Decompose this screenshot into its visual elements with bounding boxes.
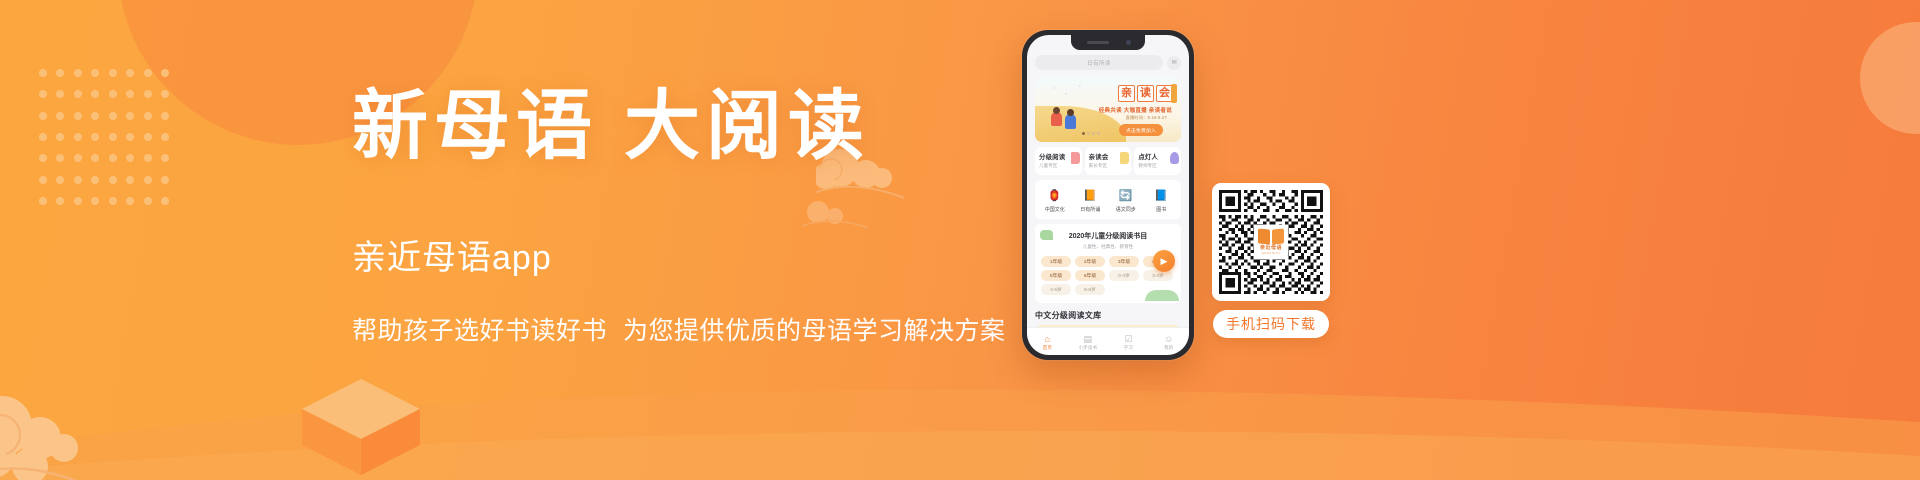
app-promo-banner[interactable]: ᵛ ᵛ ᵛ 亲 读 会 经典共读 大咖直播 亲读者说 直播时间：9.16-9.2… xyxy=(1035,76,1181,142)
category-card-teacher[interactable]: 点灯人 教师专区 xyxy=(1134,147,1181,175)
grade-chip[interactable]: 2年级 xyxy=(1075,256,1105,267)
promo-banner: 新母语大阅读 亲近母语app 帮助孩子选好书读好书为您提供优质的母语学习解决方案… xyxy=(0,0,1920,480)
quick-link-chinese-culture[interactable]: 🏮 中国文化 xyxy=(1037,187,1073,213)
decor-hill-curve xyxy=(0,330,1920,480)
people-icon xyxy=(1170,152,1179,164)
home-icon: ⌂ xyxy=(1027,334,1068,344)
tab-reading[interactable]: ▤ 小步读书 xyxy=(1068,333,1109,351)
books-icon: 📘 xyxy=(1144,190,1180,203)
page-title: 新母语大阅读 xyxy=(352,86,1052,170)
decor-cloud-bottom-left xyxy=(0,392,102,480)
category-card-graded-reading[interactable]: 分级阅读 儿童专区 xyxy=(1035,147,1082,175)
illustration-child-red xyxy=(1051,112,1062,126)
quick-link-label: 中国文化 xyxy=(1037,206,1073,213)
bird-icon: ᵛ xyxy=(1053,86,1055,92)
camera-icon xyxy=(1126,40,1131,45)
quick-link-label: 日有所诵 xyxy=(1073,206,1109,213)
headline-part-2: 大阅读 xyxy=(624,85,870,169)
age-chip[interactable]: 3-4岁 xyxy=(1143,270,1173,281)
chinese-culture-icon: 🏮 xyxy=(1037,190,1073,203)
category-card-parent-club[interactable]: 亲读会 家长专区 xyxy=(1085,147,1132,175)
search-input[interactable]: 日有所读 xyxy=(1035,55,1163,70)
tagline: 帮助孩子选好书读好书为您提供优质的母语学习解决方案 xyxy=(352,311,1052,347)
quick-link-label: 图书 xyxy=(1144,206,1180,213)
app-name: 亲近母语app xyxy=(352,230,1052,279)
booklist-card[interactable]: 2020年儿童分级阅读书目 儿童性、经典性、教育性 1年级 2年级 3年级 4年… xyxy=(1035,224,1181,303)
book-icon xyxy=(1071,152,1080,164)
headline-block: 新母语大阅读 亲近母语app 帮助孩子选好书读好书为您提供优质的母语学习解决方案 xyxy=(352,86,1052,347)
booklist-title: 2020年儿童分级阅读书目 xyxy=(1041,231,1175,241)
decor-isometric-cube xyxy=(302,379,420,480)
decor-circle-top-right xyxy=(1860,22,1920,134)
grade-chip[interactable]: 3年级 xyxy=(1109,256,1139,267)
illustration-child-blue xyxy=(1065,114,1076,129)
message-icon[interactable]: ✉ xyxy=(1167,56,1181,70)
tab-home[interactable]: ⌂ 首页 xyxy=(1027,333,1068,351)
bird-icon: ᵛ xyxy=(1065,92,1067,98)
daily-recite-icon: 📙 xyxy=(1073,190,1109,203)
tab-label: 学习 xyxy=(1108,345,1149,351)
tagline-part-2: 为您提供优质的母语学习解决方案 xyxy=(623,317,1006,345)
tab-label: 首页 xyxy=(1027,345,1068,351)
carousel-dots[interactable] xyxy=(1082,132,1100,135)
tagline-part-1: 帮助孩子选好书读好书 xyxy=(352,317,607,345)
phone-notch xyxy=(1071,35,1145,50)
qr-code-card[interactable]: 亲近母语 QINJIN MUYU xyxy=(1212,183,1330,301)
promo-title-char: 读 xyxy=(1137,85,1154,102)
bird-icon: ᵛ xyxy=(1079,84,1081,90)
promo-title: 亲 读 会 xyxy=(1118,85,1173,102)
quick-link-books[interactable]: 📘 图书 xyxy=(1144,187,1180,213)
age-chip[interactable]: 4-5岁 xyxy=(1041,284,1071,295)
quick-link-sync-lesson[interactable]: 🔄 语文同步 xyxy=(1108,187,1144,213)
book-icon xyxy=(1120,152,1129,164)
tab-profile[interactable]: ☺ 我的 xyxy=(1149,333,1190,351)
app-search-row: 日有所读 ✉ xyxy=(1035,55,1181,70)
tab-label: 我的 xyxy=(1149,345,1190,351)
open-book-icon xyxy=(1258,229,1284,244)
tab-label: 小步读书 xyxy=(1068,345,1109,351)
tab-study[interactable]: ☑ 学习 xyxy=(1108,333,1149,351)
age-chip[interactable]: 5-6岁 xyxy=(1075,284,1105,295)
qr-logo-pinyin: QINJIN MUYU xyxy=(1261,252,1280,255)
play-video-icon[interactable]: ▶ xyxy=(1153,250,1175,272)
grade-chip[interactable]: 1年级 xyxy=(1041,256,1071,267)
promo-ribbon xyxy=(1171,84,1177,103)
checklist-icon: ☑ xyxy=(1108,334,1149,344)
quick-icon-row: 🏮 中国文化 📙 日有所诵 🔄 语文同步 📘 图书 xyxy=(1035,180,1181,219)
quick-link-daily-recite[interactable]: 📙 日有所诵 xyxy=(1073,187,1109,213)
promo-join-button[interactable]: 点击免费加入 xyxy=(1119,124,1163,136)
user-icon: ☺ xyxy=(1149,334,1190,344)
qr-center-logo: 亲近母语 QINJIN MUYU xyxy=(1254,225,1288,259)
age-chip[interactable]: 0-3岁 xyxy=(1109,270,1139,281)
decor-dot-grid xyxy=(34,62,174,212)
speaker-icon xyxy=(1087,41,1109,44)
download-button[interactable]: 手机扫码下载 xyxy=(1213,310,1329,338)
promo-subtitle: 经典共读 大咖直播 亲读者说 xyxy=(1099,106,1172,114)
library-section-title: 中文分级阅读文库 xyxy=(1035,310,1181,321)
bottom-tab-bar: ⌂ 首页 ▤ 小步读书 ☑ 学习 ☺ 我的 xyxy=(1027,327,1189,355)
grade-chip[interactable]: 5年级 xyxy=(1041,270,1071,281)
headline-part-1: 新母语 xyxy=(352,85,598,169)
promo-title-char: 亲 xyxy=(1118,85,1135,102)
grade-chip[interactable]: 6年级 xyxy=(1075,270,1105,281)
phone-screen: 日有所读 ✉ ᵛ ᵛ ᵛ 亲 读 会 xyxy=(1027,35,1189,355)
category-card-row: 分级阅读 儿童专区 亲读会 家长专区 点灯人 教师专区 xyxy=(1035,147,1181,175)
qr-logo-name: 亲近母语 xyxy=(1260,245,1282,251)
sync-lesson-icon: 🔄 xyxy=(1108,190,1144,203)
booklist-subtitle: 儿童性、经典性、教育性 xyxy=(1041,244,1175,250)
quick-link-label: 语文同步 xyxy=(1108,206,1144,213)
decor-grass xyxy=(1145,290,1179,301)
book-list-icon: ▤ xyxy=(1068,334,1109,344)
promo-time: 直播时间：9.16-9.27 xyxy=(1126,115,1167,121)
phone-mockup: 日有所读 ✉ ᵛ ᵛ ᵛ 亲 读 会 xyxy=(1022,30,1194,360)
